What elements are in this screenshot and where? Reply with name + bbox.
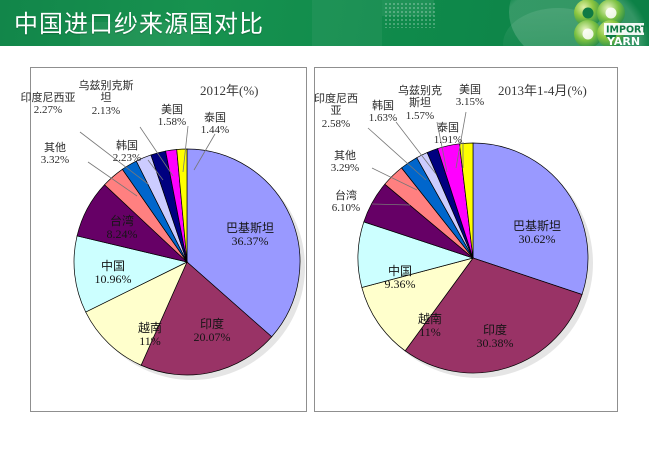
pie-label-value: 2.23%: [92, 152, 162, 164]
pie-slice-label: 越南11%: [395, 313, 465, 340]
pie-slice-label: 印度尼西亚2.27%: [20, 92, 76, 117]
pie-label-name: 中国: [78, 260, 148, 273]
pie-label-value: 20.07%: [177, 331, 247, 344]
pie-label-value: 3.32%: [20, 154, 90, 166]
pie-slice-label: 乌兹别克斯坦2.13%: [77, 80, 135, 117]
pie-label-name: 印度: [460, 324, 530, 337]
pie-slice-label: 泰国1.44%: [180, 112, 250, 137]
pie-label-name: 其他: [310, 150, 380, 162]
pie-slice-label: 美国3.15%: [435, 84, 505, 109]
pie-label-value: 30.38%: [460, 337, 530, 350]
chart-title-2012: 2012年(%): [200, 80, 259, 99]
pie-label-name: 越南: [395, 313, 465, 326]
header-underline: [0, 46, 649, 48]
pie-label-value: 11%: [395, 326, 465, 339]
pie-slice-label: 中国9.36%: [365, 265, 435, 292]
slide-header: 中国进口纱来源国对比: [0, 0, 649, 48]
pie-slice-label: 巴基斯坦30.62%: [502, 220, 572, 247]
pie-label-value: 2.27%: [20, 104, 76, 116]
pie-label-name: 巴基斯坦: [215, 222, 285, 235]
pie-label-value: 1.57%: [396, 110, 444, 122]
pie-label-value: 1.44%: [180, 124, 250, 136]
pie-label-value: 3.15%: [435, 96, 505, 108]
pie-slice-label: 台湾8.24%: [87, 215, 157, 242]
pie-slice-label: 其他3.29%: [310, 150, 380, 175]
pie-label-value: 1.91%: [413, 134, 483, 146]
pie-slice-label: 越南11%: [115, 322, 185, 349]
pie-label-name: 韩国: [92, 140, 162, 152]
pie-slice-label: 中国10.96%: [78, 260, 148, 287]
pie-label-value: 2.13%: [77, 105, 135, 117]
logo-text-imported: IMPORTED: [606, 25, 645, 36]
imported-yarn-logo: IMPORTED YARN: [563, 0, 645, 48]
logo-wordmark: IMPORTED YARN: [604, 23, 645, 48]
page-title: 中国进口纱来源国对比: [14, 7, 264, 41]
pie-label-name: 台湾: [87, 215, 157, 228]
pie-label-value: 6.10%: [311, 202, 381, 214]
slide: 中国进口纱来源国对比: [0, 0, 649, 452]
pie-label-name: 台湾: [311, 190, 381, 202]
pie-label-name: 美国: [435, 84, 505, 96]
header-decor-block-2: [312, 0, 382, 48]
pie-label-value: 10.96%: [78, 273, 148, 286]
pie-label-name: 印度尼西亚: [20, 92, 76, 104]
pie-label-name: 巴基斯坦: [502, 220, 572, 233]
header-dot-pattern: [384, 2, 436, 28]
pie-label-value: 30.62%: [502, 233, 572, 246]
pie-label-value: 8.24%: [87, 228, 157, 241]
pie-slice-label: 其他3.32%: [20, 142, 90, 167]
pie-label-value: 3.29%: [310, 162, 380, 174]
pie-label-name: 泰国: [180, 112, 250, 124]
pie-label-value: 9.36%: [365, 278, 435, 291]
pie-slice-label: 印度30.38%: [460, 324, 530, 351]
pie-slice-label: 印度20.07%: [177, 318, 247, 345]
chart-title-2013: 2013年1-4月(%): [498, 80, 587, 99]
pie-label-name: 乌兹别克斯坦: [77, 80, 135, 105]
pie-label-value: 11%: [115, 335, 185, 348]
pie-slice-label: 韩国2.23%: [92, 140, 162, 165]
pie-label-name: 越南: [115, 322, 185, 335]
pie-slice-label: 泰国1.91%: [413, 122, 483, 147]
pie-label-name: 中国: [365, 265, 435, 278]
pie-slice-label: 台湾6.10%: [311, 190, 381, 215]
pie-label-value: 36.37%: [215, 235, 285, 248]
pie-slice-label: 巴基斯坦36.37%: [215, 222, 285, 249]
pie-label-name: 其他: [20, 142, 90, 154]
pie-label-name: 泰国: [413, 122, 483, 134]
pie-label-name: 印度: [177, 318, 247, 331]
